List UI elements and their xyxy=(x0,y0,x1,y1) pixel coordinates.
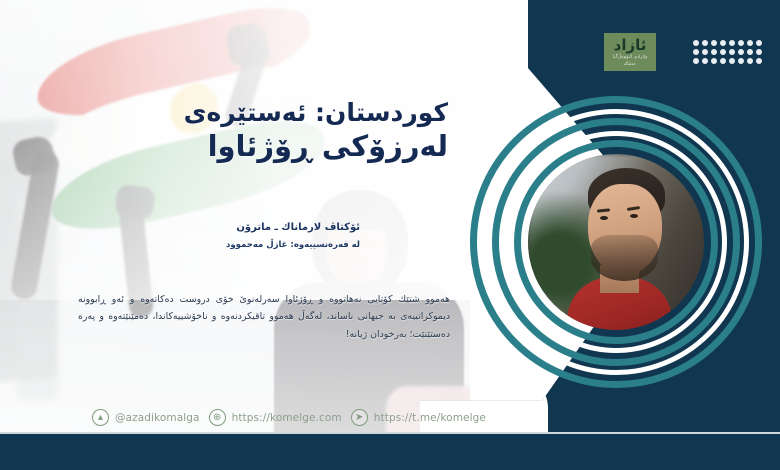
globe-icon[interactable]: ⊕ xyxy=(209,409,226,426)
author-name: ئۆکتاڤ لارماناك ـ ماترۆن xyxy=(110,222,360,233)
dot-grid-cell xyxy=(702,58,708,64)
dot-grid-cell xyxy=(729,49,735,55)
dot-grid-cell xyxy=(738,49,744,55)
footer-divider xyxy=(0,432,780,434)
dot-grid-cell xyxy=(747,58,753,64)
author-portrait xyxy=(470,96,762,388)
social-link[interactable]: ⊕https://komelge.com xyxy=(209,409,342,426)
dot-grid-decoration xyxy=(693,40,762,64)
footer-bar xyxy=(0,434,780,470)
photo-white-wash xyxy=(0,0,470,434)
social-links: ▴@azadikomalga⊕https://komelge.com➤https… xyxy=(92,409,486,426)
dot-grid-cell xyxy=(720,49,726,55)
dot-grid-cell xyxy=(720,40,726,46)
thumbs-up-icon[interactable]: ▴ xyxy=(92,409,109,426)
avatar-eye-right xyxy=(630,214,638,218)
dot-grid-cell xyxy=(720,58,726,64)
poster-canvas: ئازاد ئ‌ا‌ز‌ا‌د‌ی‌ ‌ك‌ۆ‌م‌ە‌ڵ‌گ‌ا خەلەگە… xyxy=(0,0,780,470)
dot-grid-cell xyxy=(738,58,744,64)
dot-grid-cell xyxy=(756,58,762,64)
page-title-line-2: لەرزۆکی ڕۆژئاوا xyxy=(118,129,448,164)
dot-grid-cell xyxy=(711,58,717,64)
dot-grid-cell xyxy=(747,40,753,46)
body-paragraph: هەموو شتێك كۆتایی نەهاتووە و ڕۆژئاوا سەر… xyxy=(78,291,450,343)
dot-grid-cell xyxy=(747,49,753,55)
translator-credit: لە فەرەنسییەوە: غازڵ مەحموود xyxy=(110,240,360,250)
dot-grid-cell xyxy=(756,49,762,55)
protest-photo xyxy=(0,0,470,434)
dot-grid-cell xyxy=(702,40,708,46)
avatar xyxy=(528,154,704,330)
social-link-label: https://t.me/komelge xyxy=(374,412,486,424)
dot-grid-cell xyxy=(702,49,708,55)
dot-grid-cell xyxy=(693,40,699,46)
byline: ئۆکتاڤ لارماناك ـ ماترۆن لە فەرەنسییەوە:… xyxy=(110,222,360,250)
telegram-icon[interactable]: ➤ xyxy=(351,409,368,426)
avatar-beard xyxy=(591,235,658,281)
dot-grid-cell xyxy=(729,58,735,64)
page-title-line-1: کوردستان: ئەستێرەی xyxy=(118,98,448,129)
dot-grid-cell xyxy=(738,40,744,46)
social-link[interactable]: ▴@azadikomalga xyxy=(92,409,200,426)
brand-logo[interactable]: ئازاد ئ‌ا‌ز‌ا‌د‌ی‌ ‌ك‌ۆ‌م‌ە‌ڵ‌گ‌ا خەلەگە xyxy=(604,33,656,71)
dot-grid-cell xyxy=(693,49,699,55)
brand-logo-subtext-secondary: خەلەگە xyxy=(624,61,636,66)
dot-grid-cell xyxy=(693,58,699,64)
social-link[interactable]: ➤https://t.me/komelge xyxy=(351,409,486,426)
social-link-label: https://komelge.com xyxy=(232,412,342,424)
dot-grid-cell xyxy=(729,40,735,46)
avatar-eye-left xyxy=(600,216,608,220)
social-link-label: @azadikomalga xyxy=(115,412,200,424)
brand-logo-mark: ئازاد xyxy=(614,38,647,53)
page-title: کوردستان: ئەستێرەی لەرزۆکی ڕۆژئاوا xyxy=(118,98,448,164)
dot-grid-cell xyxy=(711,40,717,46)
dot-grid-cell xyxy=(756,40,762,46)
dot-grid-cell xyxy=(711,49,717,55)
